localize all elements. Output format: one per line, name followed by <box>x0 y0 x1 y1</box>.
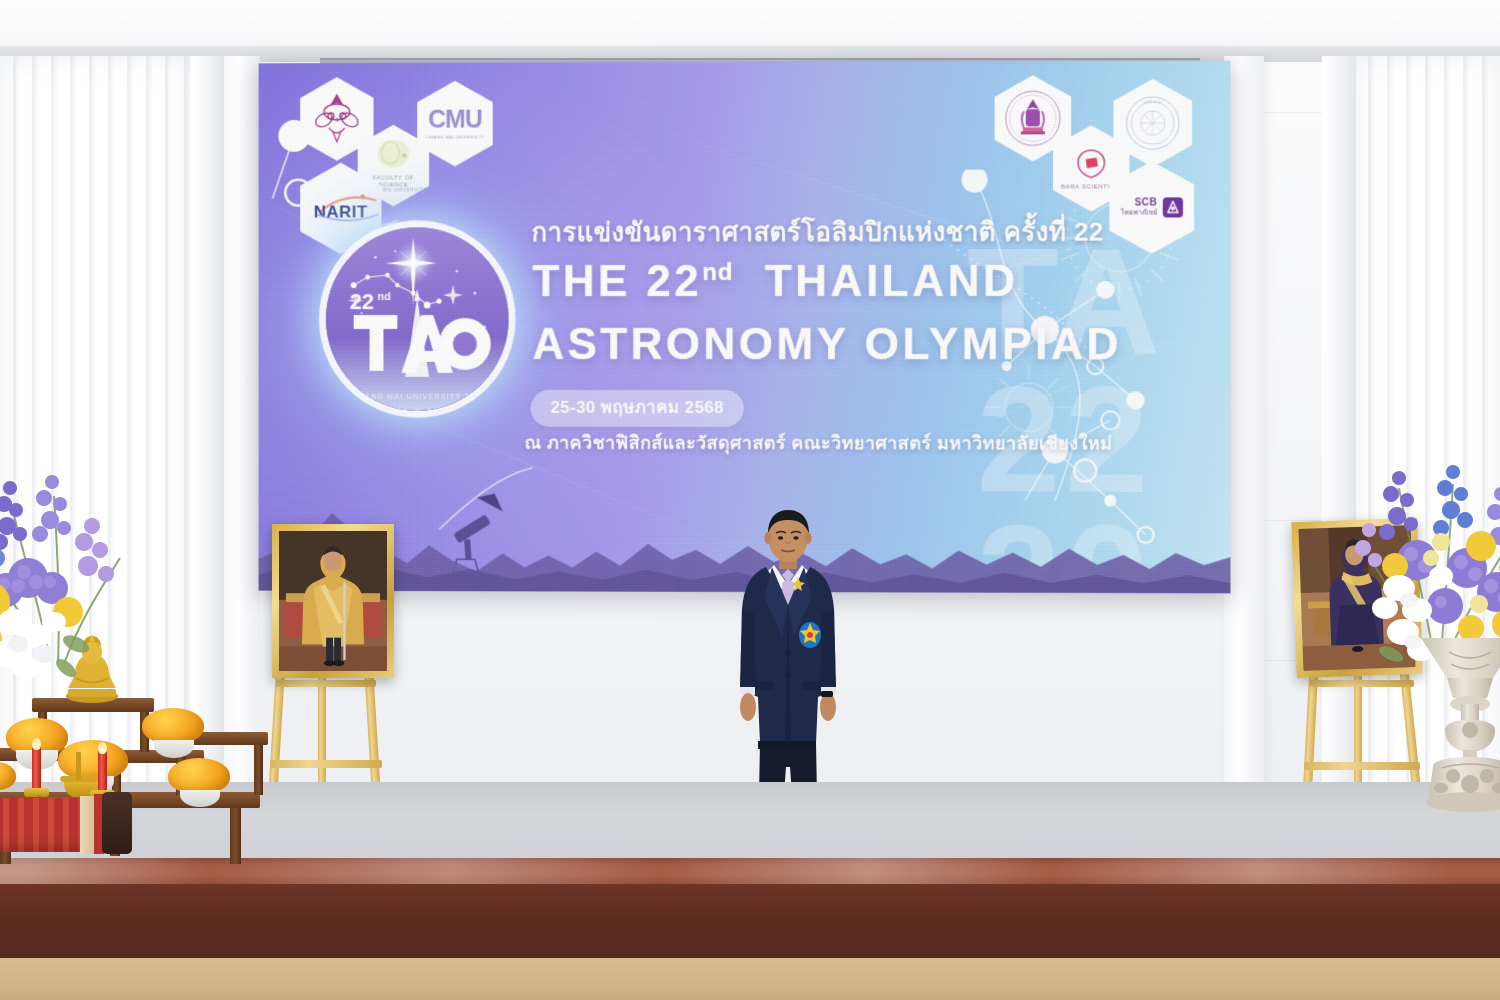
hall-floor <box>0 958 1500 1000</box>
incense-burner-stem <box>76 752 81 780</box>
banner-title-en-a: THE 22 <box>533 257 703 306</box>
flower-arrangement-left <box>0 430 210 720</box>
emblem-ordinal-sup: nd <box>377 291 390 303</box>
ministry-emblem-icon: ว <box>311 92 363 146</box>
banner-date-badge: 25-30 พฤษภาคม 2568 <box>531 390 744 427</box>
easel-crossbar <box>1304 762 1420 770</box>
banner-title-en-line1: THE 22nd THAILAND <box>533 257 1019 307</box>
cmu-label: CMU <box>425 108 484 133</box>
altar-table-leg <box>230 808 241 864</box>
emblem-ordinal: 22 <box>350 289 374 314</box>
ornate-pedestal-vase <box>1415 638 1500 818</box>
chest-emblem-badge <box>799 622 821 648</box>
svg-text:มูลนิธิ สอวน.: มูลนิธิ สอวน. <box>1143 100 1162 104</box>
tao-circular-emblem: 22 nd CHIANG MAI UNIVERSITY 2568 <box>326 227 509 411</box>
thai-triangle-cushion <box>0 790 134 856</box>
banner-title-en-b: THAILAND <box>765 257 1019 306</box>
altar-table-leg <box>254 745 263 795</box>
flower-arrangement-right <box>1355 442 1500 742</box>
royal-portrait-king <box>272 524 394 678</box>
easel-crossbar <box>276 680 376 687</box>
svg-text:ว: ว <box>335 118 338 124</box>
posn-seal-icon: มูลนิธิ สอวน. <box>1123 94 1181 152</box>
cmu-sub: CHIANG MAI UNIVERSITY <box>425 135 484 140</box>
faculty-of-science-icon <box>374 138 414 174</box>
flowers-left-graphic <box>0 430 210 720</box>
banner-title-thai: การแข่งขันดาราศาสตร์โอลิมปิกแห่งชาติ ครั… <box>532 211 1153 253</box>
banner-title-en-sup: nd <box>702 259 733 286</box>
bara-scientific-icon <box>1074 146 1108 180</box>
king-portrait-image <box>279 531 387 671</box>
stage-front-panel <box>0 884 1500 958</box>
photo-scene: TA 22 20 ว <box>0 0 1500 1000</box>
scb-label: SCB <box>1121 198 1157 210</box>
narit-arc-icon <box>313 212 382 224</box>
tao-emblem-graphic: 22 nd CHIANG MAI UNIVERSITY 2568 <box>326 227 509 411</box>
royal-society-emblem-icon <box>1004 89 1062 147</box>
banner-title-en-line2: ASTRONOMY OLYMPIAD <box>533 320 1123 370</box>
scb-shield-icon <box>1162 197 1182 217</box>
banner-venue-text: ณ ภาควิชาฟิสิกส์และวัสดุศาสตร์ คณะวิทยาศ… <box>525 428 1113 458</box>
